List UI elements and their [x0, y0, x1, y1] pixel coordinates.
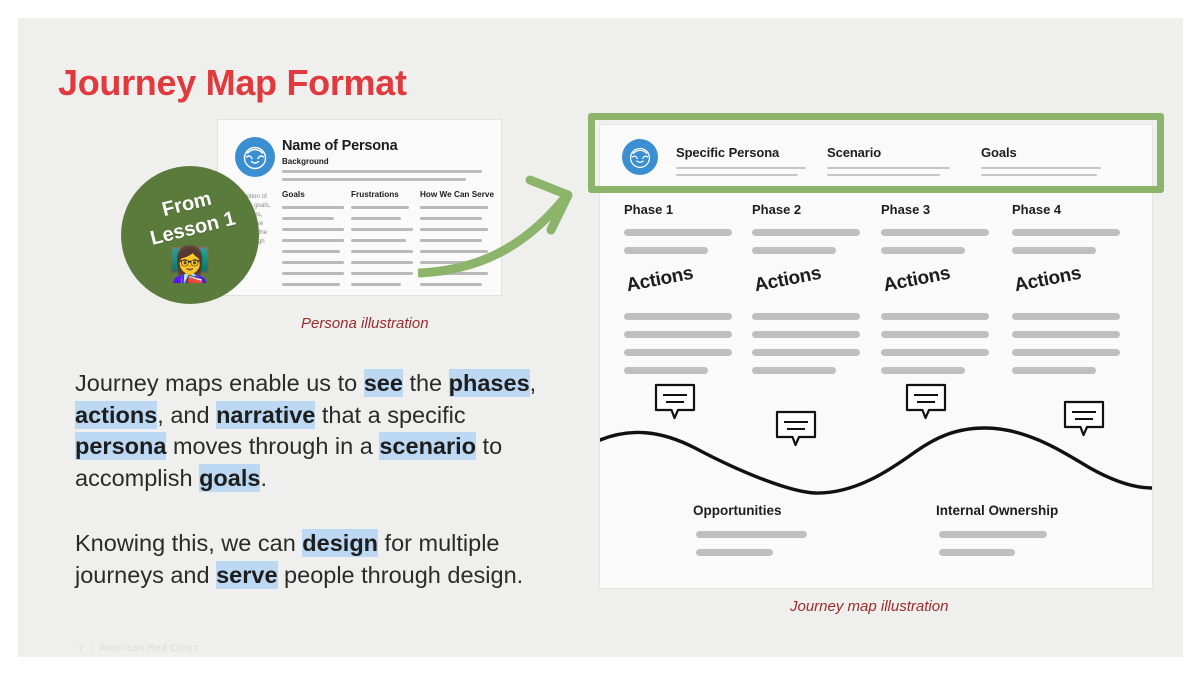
- teacher-emoji-icon: 👩‍🏫: [121, 248, 259, 282]
- header-line-persona-1: [676, 167, 806, 169]
- phase-title-1: Phase 1: [624, 202, 673, 217]
- journey-map-caption: Journey map illustration: [790, 598, 948, 615]
- phase-2-top-bar-1: [752, 229, 860, 236]
- p1-highlight-goals: goals: [199, 464, 260, 492]
- persona-bar-frustrations-4: [351, 239, 406, 242]
- opportunities-bar-1: [696, 531, 807, 538]
- header-line-scenario-2: [827, 174, 940, 176]
- persona-caption: Persona illustration: [301, 315, 429, 332]
- p2-highlight-serve: serve: [216, 561, 277, 589]
- phase-3-bottom-bar-4: [881, 367, 965, 374]
- footer-org: American Red Cross: [99, 643, 198, 654]
- phase-1-bottom-bar-2: [624, 331, 732, 338]
- p1-highlight-narrative: narrative: [216, 401, 315, 429]
- actions-label-4: Actions: [1013, 263, 1084, 297]
- phase-3-bottom-bar-1: [881, 313, 989, 320]
- header-field-scenario: Scenario: [827, 145, 881, 160]
- footer: 7|American Red Cross: [78, 643, 198, 654]
- opportunities-bar-2: [696, 549, 773, 556]
- persona-bar-frustrations-6: [351, 261, 413, 264]
- persona-bar-frustrations-8: [351, 283, 401, 286]
- persona-subtitle: Background: [282, 157, 329, 166]
- phase-title-2: Phase 2: [752, 202, 801, 217]
- internal-ownership-bar-2: [939, 549, 1015, 556]
- phase-1-top-bar-1: [624, 229, 732, 236]
- phase-2-bottom-bar-2: [752, 331, 860, 338]
- p1-highlight-actions: actions: [75, 401, 157, 429]
- section-opportunities-title: Opportunities: [693, 503, 782, 518]
- p1-text-6: moves through in a: [166, 433, 379, 459]
- quote-bubble-1-icon: [654, 383, 696, 421]
- persona-bar-goals-2: [282, 217, 334, 220]
- persona-bar-frustrations-3: [351, 228, 413, 231]
- header-line-goals-2: [981, 174, 1097, 176]
- phase-4-bottom-bar-3: [1012, 349, 1120, 356]
- quote-bubble-3-icon: [905, 383, 947, 421]
- phase-2-bottom-bar-4: [752, 367, 836, 374]
- p1-highlight-phases: phases: [449, 369, 530, 397]
- slide-canvas: Journey Map Format Name of Persona Backg…: [18, 18, 1183, 657]
- persona-avatar-icon: [235, 137, 275, 177]
- phase-4-top-bar-1: [1012, 229, 1120, 236]
- phase-2-top-bar-2: [752, 247, 836, 254]
- from-lesson-badge: From Lesson 1 👩‍🏫: [121, 166, 259, 304]
- actions-label-1: Actions: [625, 263, 696, 297]
- p1-highlight-scenario: scenario: [379, 432, 476, 460]
- p1-text-5: that a specific: [315, 402, 465, 428]
- persona-bar-goals-6: [282, 261, 344, 264]
- footer-separator: |: [90, 643, 93, 654]
- p1-highlight-persona: persona: [75, 432, 166, 460]
- persona-bar-goals-8: [282, 283, 340, 286]
- phase-4-bottom-bar-4: [1012, 367, 1096, 374]
- phase-4-top-bar-2: [1012, 247, 1096, 254]
- persona-bar-frustrations-1: [351, 206, 409, 209]
- p1-text-2: the: [403, 370, 449, 396]
- phase-1-bottom-bar-1: [624, 313, 732, 320]
- p1-text-3: ,: [530, 370, 537, 396]
- phase-title-4: Phase 4: [1012, 202, 1061, 217]
- green-curved-arrow-icon: [418, 138, 618, 298]
- quote-bubble-2-icon: [775, 410, 817, 448]
- persona-bar-goals-7: [282, 272, 344, 275]
- page-number: 7: [78, 643, 84, 654]
- p1-text-1: Journey maps enable us to: [75, 370, 364, 396]
- header-line-goals-1: [981, 167, 1101, 169]
- phase-2-bottom-bar-3: [752, 349, 860, 356]
- actions-label-3: Actions: [882, 263, 953, 297]
- body-paragraph-1: Journey maps enable us to see the phases…: [75, 368, 545, 494]
- phase-1-top-bar-2: [624, 247, 708, 254]
- persona-name: Name of Persona: [282, 138, 397, 154]
- header-field-goals: Goals: [981, 145, 1017, 160]
- persona-column-goals: Goals: [282, 190, 305, 199]
- p1-text-4: , and: [157, 402, 216, 428]
- phase-2-bottom-bar-1: [752, 313, 860, 320]
- phase-3-bottom-bar-2: [881, 331, 989, 338]
- persona-bar-goals-4: [282, 239, 344, 242]
- p1-highlight-see: see: [364, 369, 403, 397]
- phase-title-3: Phase 3: [881, 202, 930, 217]
- body-paragraph-2: Knowing this, we can design for multiple…: [75, 528, 545, 591]
- p2-text-1: Knowing this, we can: [75, 530, 302, 556]
- page-title: Journey Map Format: [58, 62, 407, 104]
- header-field-specific-persona: Specific Persona: [676, 145, 779, 160]
- phase-4-bottom-bar-1: [1012, 313, 1120, 320]
- p2-text-3: people through design.: [278, 562, 524, 588]
- persona-bar-goals-1: [282, 206, 344, 209]
- phase-1-bottom-bar-3: [624, 349, 732, 356]
- header-line-persona-2: [676, 174, 798, 176]
- persona-bar-goals-5: [282, 250, 340, 253]
- quote-bubble-4-icon: [1063, 400, 1105, 438]
- persona-bar-frustrations-2: [351, 217, 401, 220]
- section-internal-ownership-title: Internal Ownership: [936, 503, 1058, 518]
- persona-bar-goals-3: [282, 228, 344, 231]
- journey-map-header: Specific Persona Scenario Goals: [600, 125, 1152, 188]
- persona-column-frustrations: Frustrations: [351, 190, 399, 199]
- phase-1-bottom-bar-4: [624, 367, 708, 374]
- p1-text-8: .: [260, 465, 267, 491]
- header-line-scenario-1: [827, 167, 950, 169]
- persona-avatar-icon: [622, 139, 658, 175]
- phase-3-top-bar-2: [881, 247, 965, 254]
- phase-3-bottom-bar-3: [881, 349, 989, 356]
- phase-4-bottom-bar-2: [1012, 331, 1120, 338]
- persona-bar-frustrations-5: [351, 250, 413, 253]
- p2-highlight-design: design: [302, 529, 378, 557]
- journey-map-panel: Specific Persona Scenario Goals Phase 1A…: [599, 124, 1153, 589]
- persona-bar-frustrations-7: [351, 272, 413, 275]
- actions-label-2: Actions: [753, 263, 824, 297]
- phase-3-top-bar-1: [881, 229, 989, 236]
- internal-ownership-bar-1: [939, 531, 1047, 538]
